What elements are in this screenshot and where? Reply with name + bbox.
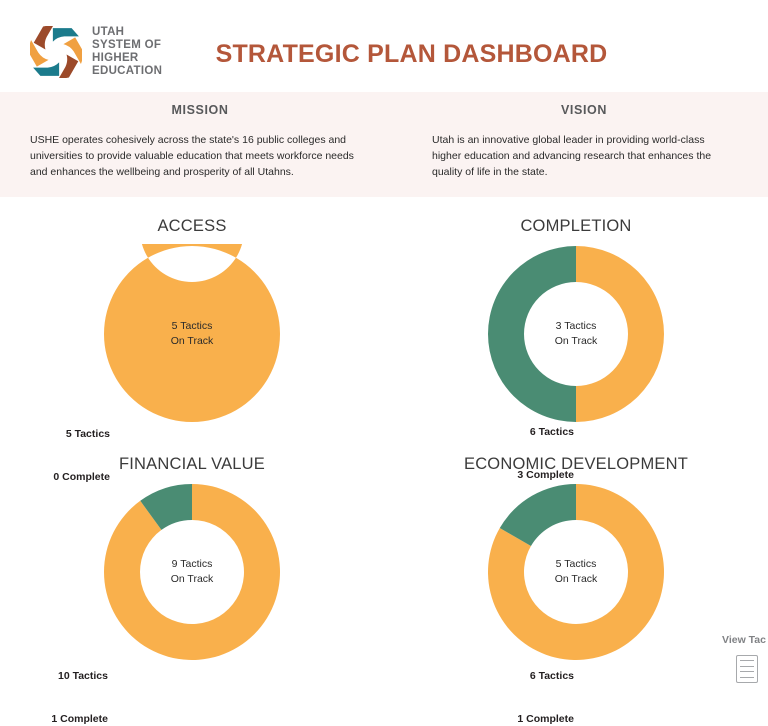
donut-financial-value[interactable]: 9 Tactics On Track	[0, 482, 384, 662]
chart-card-completion[interactable]: COMPLETION 3 Tactics On Track 6 Tactics …	[384, 217, 768, 462]
list-document-icon[interactable]	[736, 655, 758, 683]
view-tactics-label: View Tac	[722, 634, 768, 646]
summary-total: 5 Tactics	[66, 428, 110, 440]
vision-heading: VISION	[400, 103, 768, 117]
chart-card-financial-value[interactable]: FINANCIAL VALUE 9 Tactics On Track 10 Ta…	[0, 455, 384, 709]
chart-title-completion: COMPLETION	[384, 217, 768, 236]
donut-segment[interactable]	[576, 246, 664, 422]
view-tactics-widget[interactable]: View Tac	[722, 634, 768, 683]
list-line	[740, 666, 754, 667]
chart-summary-financial-value: 10 Tactics 1 Complete	[8, 655, 108, 726]
donut-access[interactable]: 5 Tactics On Track	[0, 244, 384, 424]
chart-title-financial-value: FINANCIAL VALUE	[0, 455, 384, 474]
dashboard-chart-grid: ACCESS 5 Tactics On Track 5 Tactics 0 Co…	[0, 197, 768, 709]
chart-summary-economic-development: 6 Tactics 1 Complete	[474, 655, 574, 726]
summary-total: 6 Tactics	[530, 426, 574, 438]
summary-total: 10 Tactics	[58, 670, 108, 682]
donut-completion[interactable]: 3 Tactics On Track	[384, 244, 768, 424]
mission-text: USHE operates cohesively across the stat…	[30, 133, 358, 180]
mission-column: MISSION USHE operates cohesively across …	[0, 92, 400, 180]
mission-vision-band: MISSION USHE operates cohesively across …	[0, 92, 768, 197]
summary-complete: 1 Complete	[51, 713, 108, 725]
page-header: UTAH SYSTEM OF HIGHER EDUCATION STRATEGI…	[0, 0, 768, 92]
list-line	[740, 671, 754, 672]
chart-card-economic-development[interactable]: ECONOMIC DEVELOPMENT 5 Tactics On Track …	[384, 455, 768, 709]
mission-heading: MISSION	[0, 103, 400, 117]
chart-title-economic-development: ECONOMIC DEVELOPMENT	[384, 455, 768, 474]
vision-column: VISION Utah is an innovative global lead…	[400, 92, 768, 180]
list-line	[740, 660, 754, 661]
page-title: STRATEGIC PLAN DASHBOARD	[0, 40, 768, 69]
list-line	[740, 677, 754, 678]
chart-title-access: ACCESS	[0, 217, 384, 236]
summary-total: 6 Tactics	[530, 670, 574, 682]
donut-segment[interactable]	[488, 246, 576, 422]
vision-text: Utah is an innovative global leader in p…	[432, 133, 728, 180]
donut-segment[interactable]	[104, 244, 280, 422]
donut-economic-development[interactable]: 5 Tactics On Track	[384, 482, 768, 662]
chart-card-access[interactable]: ACCESS 5 Tactics On Track 5 Tactics 0 Co…	[0, 217, 384, 462]
summary-complete: 1 Complete	[517, 713, 574, 725]
